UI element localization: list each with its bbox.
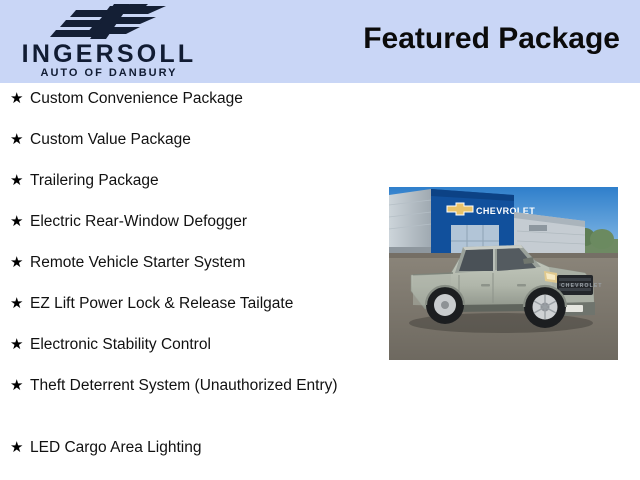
feature-list: ★ Custom Convenience Package ★ Custom Va… [0, 88, 365, 478]
ingersoll-wing-emblem-icon [44, 2, 174, 40]
list-item: ★ LED Cargo Area Lighting [0, 437, 365, 478]
star-bullet-icon: ★ [10, 129, 30, 151]
list-item: ★ EZ Lift Power Lock & Release Tailgate [0, 293, 365, 334]
star-bullet-icon: ★ [10, 170, 30, 192]
list-item-label: EZ Lift Power Lock & Release Tailgate [30, 293, 365, 314]
star-bullet-icon: ★ [10, 437, 30, 459]
list-item: ★ Remote Vehicle Starter System [0, 252, 365, 293]
list-item-label: Custom Value Package [30, 129, 365, 150]
star-bullet-icon: ★ [10, 252, 30, 274]
list-item-label: Custom Convenience Package [30, 88, 365, 109]
vehicle-photo: CHEVROLET [389, 187, 618, 360]
list-item-label: LED Cargo Area Lighting [30, 437, 365, 458]
list-item-label: Theft Deterrent System (Unauthorized Ent… [30, 375, 365, 396]
list-item-label: Trailering Package [30, 170, 365, 191]
star-bullet-icon: ★ [10, 211, 30, 233]
list-item: ★ Theft Deterrent System (Unauthorized E… [0, 375, 365, 437]
list-item: ★ Custom Value Package [0, 129, 365, 170]
page-title: Featured Package [363, 22, 620, 56]
star-bullet-icon: ★ [10, 334, 30, 356]
star-bullet-icon: ★ [10, 88, 30, 110]
star-bullet-icon: ★ [10, 293, 30, 315]
list-item: ★ Electric Rear-Window Defogger [0, 211, 365, 252]
list-item-label: Electronic Stability Control [30, 334, 365, 355]
list-item: ★ Electronic Stability Control [0, 334, 365, 375]
star-bullet-icon: ★ [10, 375, 30, 397]
list-item: ★ Custom Convenience Package [0, 88, 365, 129]
header-band: INGERSOLL AUTO OF DANBURY Featured Packa… [0, 0, 640, 83]
list-item: ★ Trailering Package [0, 170, 365, 211]
svg-text:CHEVROLET: CHEVROLET [561, 283, 603, 289]
list-item-label: Electric Rear-Window Defogger [30, 211, 365, 232]
dealer-logo: INGERSOLL AUTO OF DANBURY [4, 0, 214, 83]
brand-subtitle: AUTO OF DANBURY [4, 68, 214, 79]
list-item-label: Remote Vehicle Starter System [30, 252, 365, 273]
brand-name: INGERSOLL [4, 42, 214, 67]
